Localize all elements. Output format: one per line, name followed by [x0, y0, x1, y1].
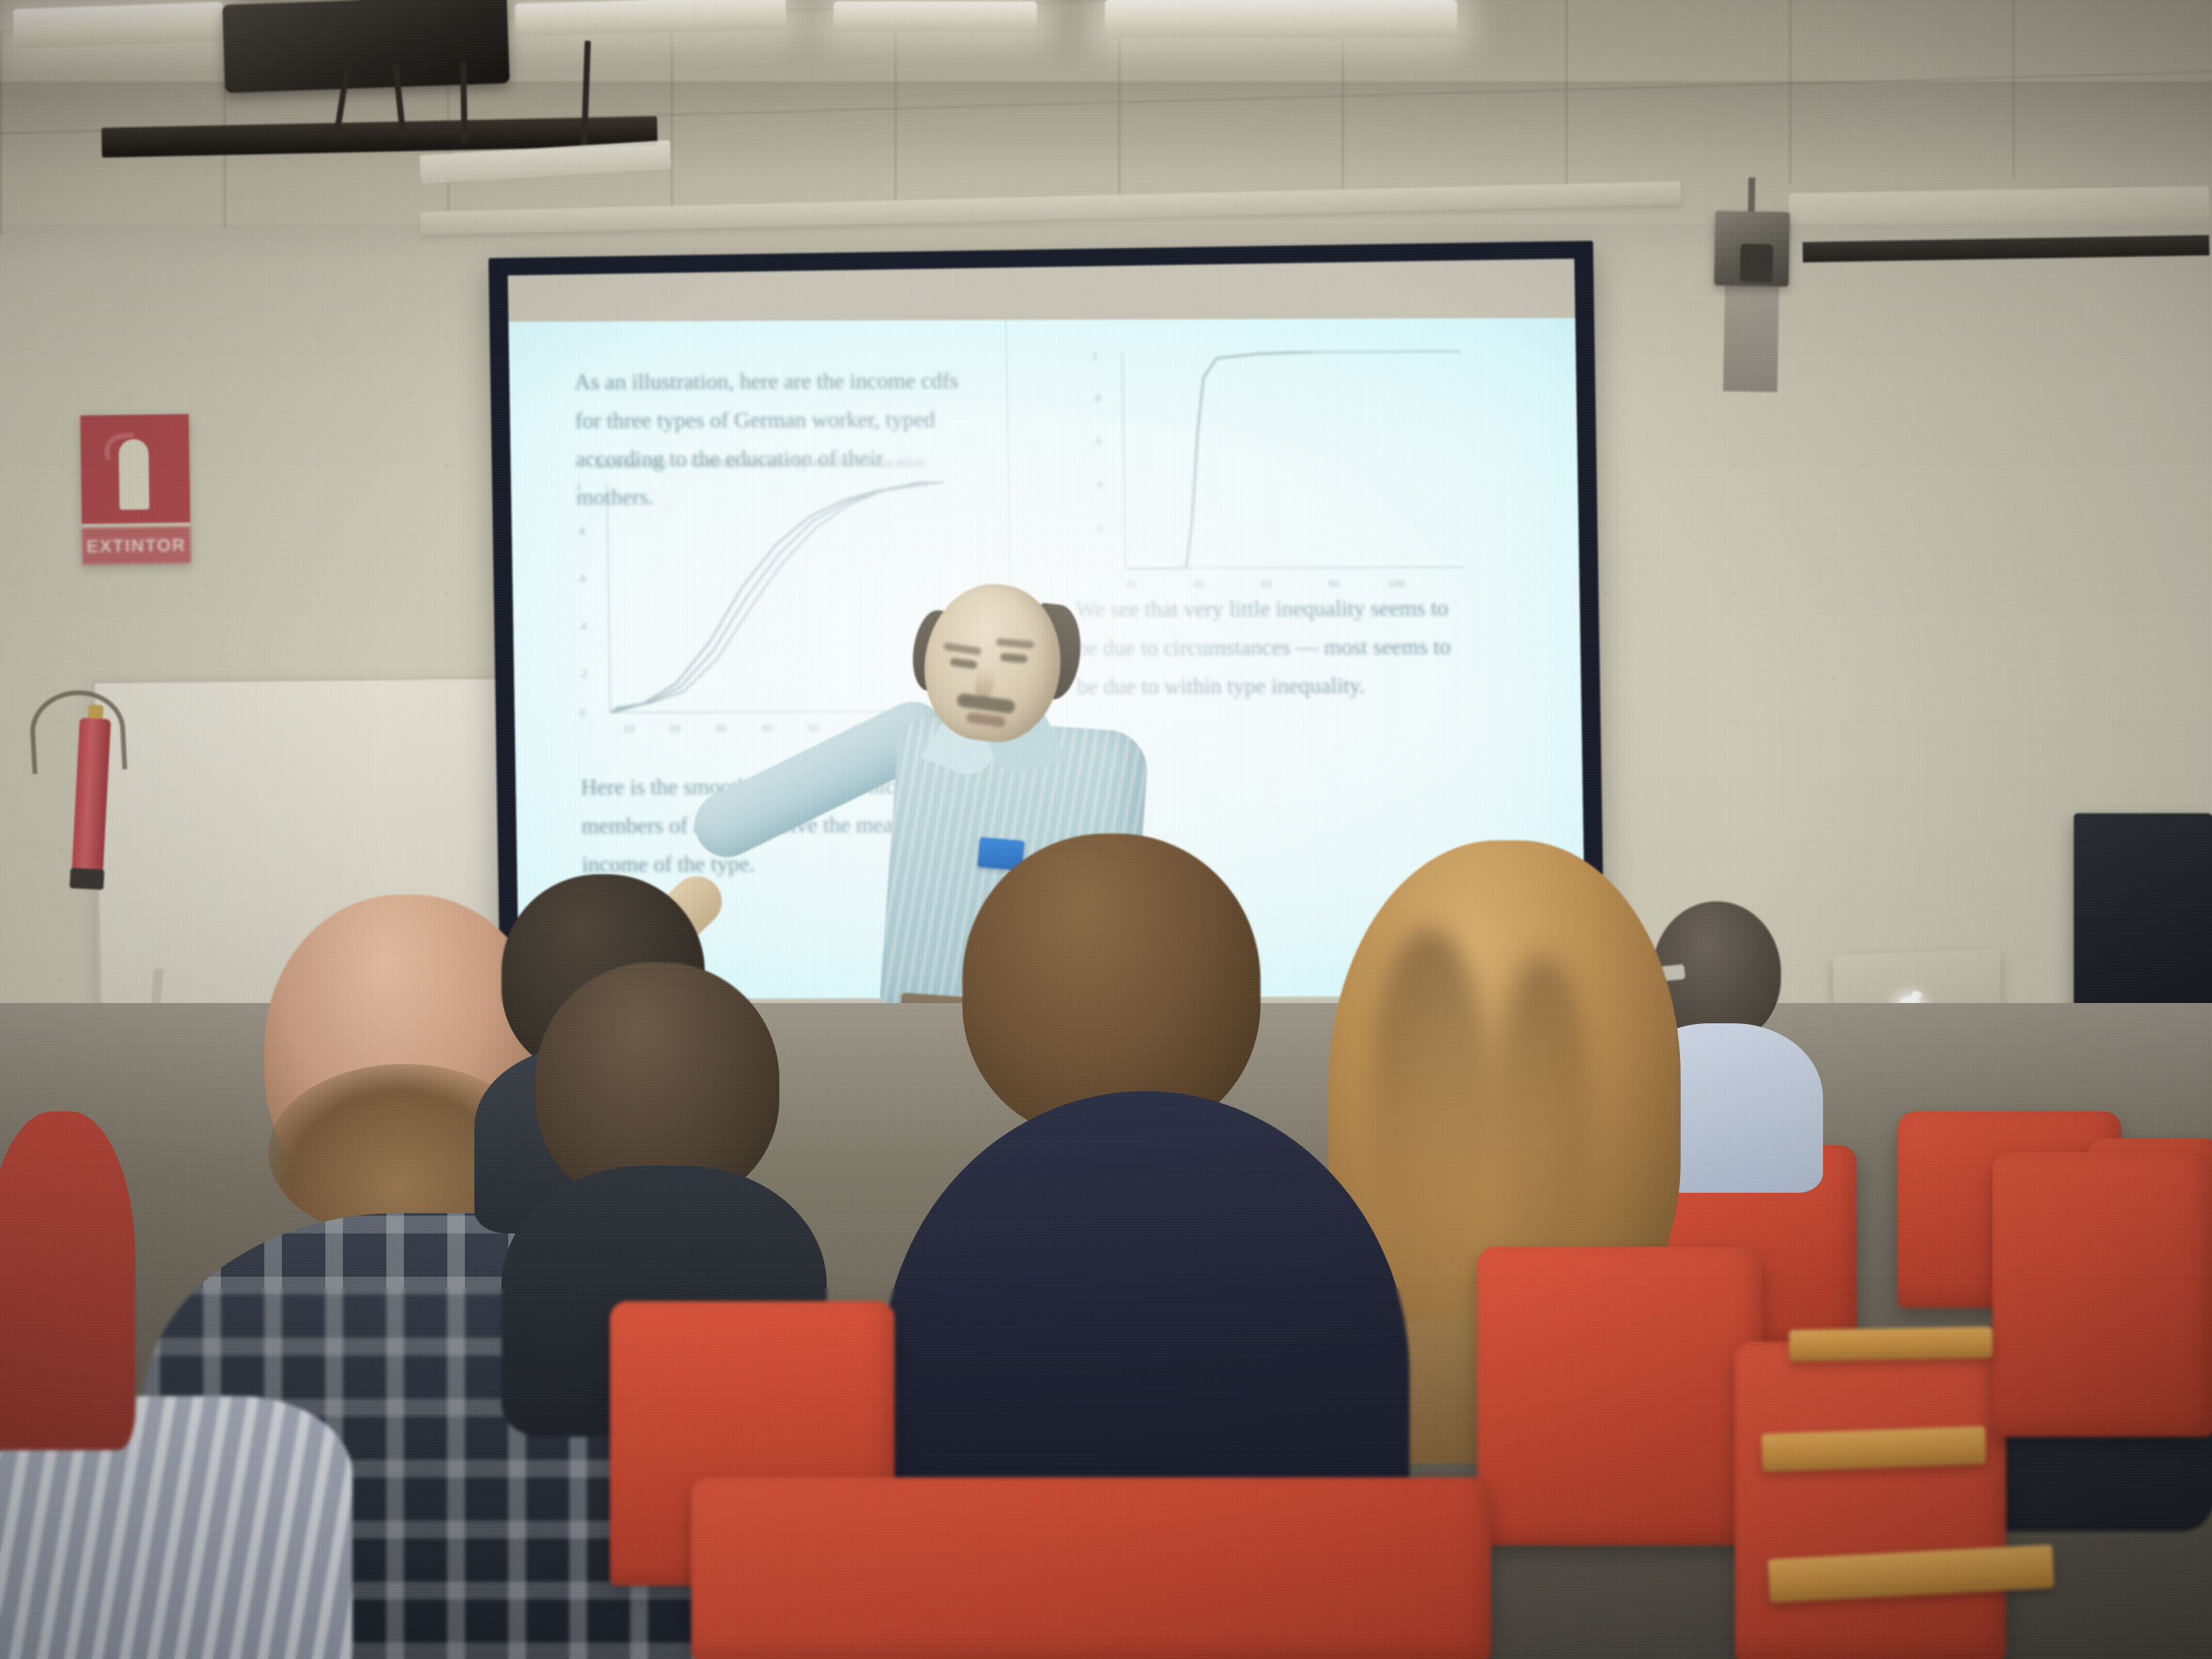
smoothed-cdf-chart: 1 .8 .6 .4 .2 20 40 60 80 100 — [1086, 346, 1470, 605]
chart-xtick: 10 — [623, 723, 634, 735]
chart-xtick: 30 — [715, 723, 726, 735]
chart-ytick: .4 — [578, 621, 587, 632]
chart-ytick: .2 — [1094, 523, 1103, 534]
chart-ytick: .8 — [577, 526, 586, 537]
ceiling-projector — [222, 0, 510, 93]
wall-speaker — [1706, 197, 1797, 321]
person-left-edge — [0, 1111, 136, 1450]
ceiling-light — [834, 1, 1037, 31]
chart-ytick: .2 — [579, 668, 588, 680]
sign-label: EXTINTOR — [82, 527, 191, 565]
chart-xtick: 100 — [1388, 578, 1405, 590]
speaker-base — [1723, 283, 1780, 392]
seat — [1735, 1342, 2006, 1659]
chart-xtick: 40 — [761, 722, 773, 734]
chart-ytick: .6 — [577, 573, 586, 585]
chart-curves — [1122, 351, 1464, 569]
chart-ytick: .8 — [1092, 392, 1101, 404]
dark-monitor — [2074, 813, 2212, 1030]
hair-shadow — [1491, 956, 1593, 1294]
chart-xtick: 80 — [1328, 578, 1340, 590]
sign-pane — [80, 414, 190, 524]
chart-ytick: .6 — [1093, 436, 1102, 447]
arm — [0, 1111, 136, 1450]
ceiling-light — [1105, 0, 1457, 38]
seat — [1992, 1152, 2212, 1437]
seat-writing-tablet — [1761, 1426, 1986, 1471]
speaker-housing — [1714, 211, 1790, 287]
ceiling-light — [13, 2, 224, 49]
chart-title: Income cdfs — German workers by mother's… — [570, 453, 949, 472]
seat — [691, 1477, 1491, 1659]
seat — [1477, 1247, 1762, 1545]
speaker-grille — [1740, 244, 1773, 283]
chart-xtick: 20 — [669, 723, 680, 735]
chart-ytick: .4 — [1094, 479, 1103, 491]
extinguisher-hose-icon — [102, 432, 136, 460]
chart-ytick: 1 — [1092, 350, 1098, 362]
lecture-hall-photo: EXTINTOR As an illustration, here are th… — [0, 0, 2212, 1659]
seat-writing-tablet — [1789, 1326, 1993, 1361]
chart-ytick: 1 — [576, 481, 582, 493]
extinguisher-base — [70, 868, 105, 890]
chart-ytick: 0 — [579, 708, 586, 719]
fire-extinguisher-sign: EXTINTOR — [80, 414, 190, 565]
